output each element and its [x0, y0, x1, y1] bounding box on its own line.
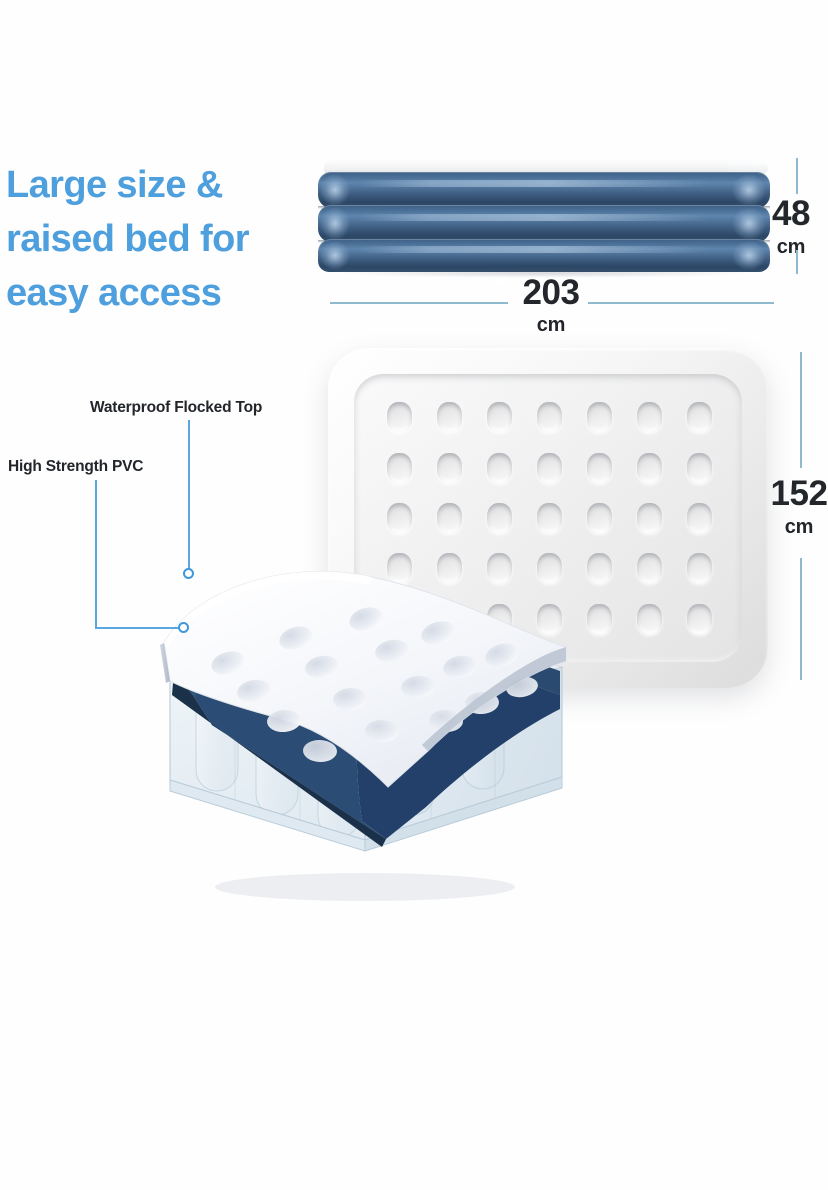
width-dim-line-upper — [800, 352, 802, 468]
length-dim-unit: cm — [510, 315, 592, 335]
headline-line-3: easy access — [6, 266, 326, 320]
callout-leader-pvc-horizontal — [95, 627, 183, 629]
length-dim-line-left — [330, 302, 508, 304]
height-dim-line-lower — [796, 250, 798, 274]
headline-line-2: raised bed for — [6, 212, 326, 266]
air-chamber-top — [318, 172, 770, 208]
width-dim-unit: cm — [768, 517, 828, 537]
callout-label-flocked-top: Waterproof Flocked Top — [90, 399, 262, 417]
headline-line-1: Large size & — [6, 158, 326, 212]
mattress-side-view: ACTIVE ERA — [318, 160, 770, 270]
infographic-canvas: Large size & raised bed for easy access … — [0, 0, 828, 1190]
callout-label-pvc: High Strength PVC — [8, 458, 143, 476]
height-dim-value: 48 — [772, 196, 810, 231]
callout-dot-pvc — [178, 622, 189, 633]
air-chamber-middle: ACTIVE ERA — [318, 205, 770, 242]
width-dim-line-lower — [800, 558, 802, 680]
width-dim-label: 152 cm — [768, 476, 828, 537]
callout-leader-pvc-vertical — [95, 480, 97, 628]
page-headline: Large size & raised bed for easy access — [6, 158, 326, 320]
height-dim-unit: cm — [772, 237, 810, 257]
callout-dot-flocked-top — [183, 568, 194, 579]
length-dim-value: 203 — [510, 275, 592, 310]
height-dim-line-upper — [796, 158, 798, 194]
mattress-cutaway-diagram — [150, 495, 580, 915]
length-dim-label: 203 cm — [510, 275, 592, 335]
width-dim-value: 152 — [768, 476, 828, 511]
height-dim-label: 48 cm — [772, 196, 810, 257]
callout-leader-flocked-top — [188, 420, 190, 572]
length-dim-line-right — [588, 302, 774, 304]
